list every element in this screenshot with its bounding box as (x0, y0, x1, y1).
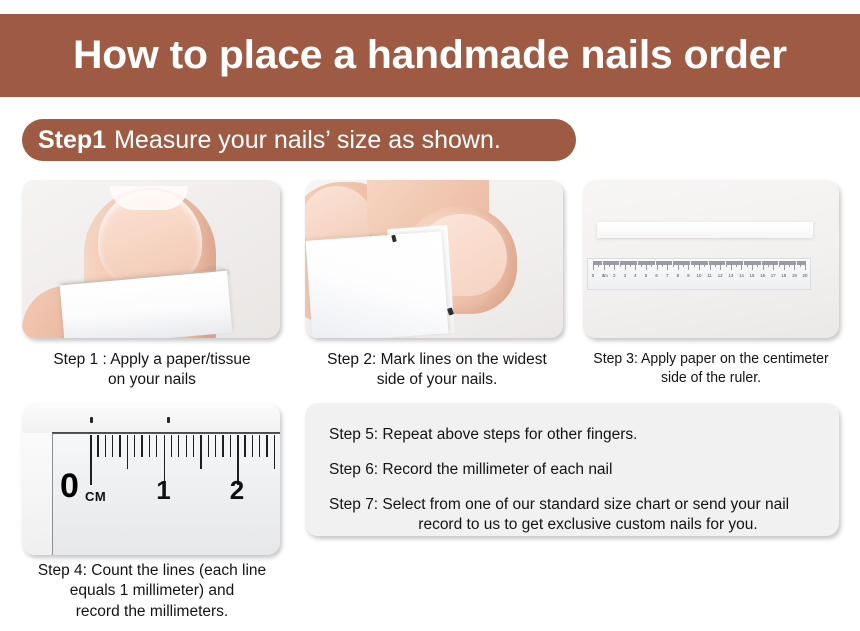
ruler-tick (178, 435, 179, 457)
ruler-tick (97, 435, 98, 457)
caption-step1: Step 1 : Apply a paper/tissue on your na… (12, 350, 292, 391)
ruler-number: 14 (739, 273, 744, 278)
fingertip-with-paper-icon (22, 180, 280, 338)
marked-paper-strip-icon (305, 180, 563, 338)
caption-step4-line2: equals 1 millimeter) and (12, 581, 292, 601)
ruler-tick (134, 435, 135, 457)
paper-strip (597, 222, 813, 238)
ruler-number: 16 (760, 273, 765, 278)
ruler-number: 20 (803, 273, 808, 278)
ruler-tick (244, 435, 245, 457)
ruler-number: 2 (230, 475, 244, 506)
ruler-macro-icon: 0 CM 123 (22, 403, 280, 555)
ruler-number: 5 (645, 273, 647, 278)
ruler-tick (200, 435, 201, 469)
ruler-number: 13 (728, 273, 733, 278)
ruler-tick (259, 435, 260, 457)
photo-card-step1 (22, 180, 280, 338)
caption-step2-line2: side of your nails. (297, 370, 577, 390)
ruler-unit-label: cm (602, 273, 608, 278)
ruler-tick (222, 435, 223, 457)
caption-step1-line2: on your nails (12, 370, 292, 390)
ruler-number: 18 (781, 273, 786, 278)
ruler-zero-label: 0 (60, 469, 79, 503)
ruler-tick (252, 435, 253, 457)
ruler-number: 1 (156, 475, 170, 506)
ruler-number: 12 (718, 273, 723, 278)
ruler-tick (230, 435, 231, 457)
ruler-number: 4 (634, 273, 636, 278)
steps-list: Step 5: Repeat above steps for other fin… (329, 425, 821, 536)
steps-text-card: Step 5: Repeat above steps for other fin… (305, 403, 839, 536)
step1-label: Step1 (38, 126, 106, 155)
ruler-tick (119, 435, 120, 457)
ruler-number: 7 (666, 273, 668, 278)
ruler-number: 2 (613, 273, 615, 278)
ruler-number: 9 (687, 273, 689, 278)
ruler-number: 11 (707, 273, 712, 278)
caption-step4: Step 4: Count the lines (each line equal… (12, 561, 292, 622)
caption-step3-line1: Step 3: Apply paper on the centimeter (577, 350, 845, 369)
caption-step1-line1: Step 1 : Apply a paper/tissue (12, 350, 292, 370)
ruler-tick (266, 435, 267, 457)
caption-step2-line1: Step 2: Mark lines on the widest (297, 350, 577, 370)
ruler-number: 0 (592, 273, 594, 278)
ruler-tick (105, 435, 106, 457)
step7-line2: record to us to get exclusive custom nai… (329, 515, 821, 535)
step1-instruction: Measure your nails’ size as shown. (114, 126, 501, 155)
ruler-number: 3 (624, 273, 626, 278)
step1-banner: Step1 Measure your nails’ size as shown. (22, 119, 576, 161)
photo-card-step2 (305, 180, 563, 338)
ruler-tick (90, 435, 92, 485)
page-title: How to place a handmade nails order (73, 33, 787, 78)
ruler-tick (171, 435, 172, 457)
ruler-tick (193, 435, 194, 457)
ruler-number: 10 (697, 273, 702, 278)
ruler-tick (208, 435, 209, 457)
ruler-tick (156, 435, 157, 457)
caption-step4-line1: Step 4: Count the lines (each line (12, 561, 292, 581)
ruler-unit-label: CM (85, 489, 106, 504)
caption-step3-line2: side of the ruler. (577, 369, 845, 388)
ruler-tick (149, 435, 150, 457)
ruler-tick (112, 435, 113, 457)
step5-line: Step 5: Repeat above steps for other fin… (329, 425, 821, 445)
ruler-tick (274, 435, 275, 469)
caption-step4-line3: record the millimeters. (12, 602, 292, 622)
ruler-number: 17 (771, 273, 776, 278)
photo-card-step3: 01234567891011121314151617181920cm (583, 180, 839, 338)
ruler-with-paper-icon: 01234567891011121314151617181920cm (583, 180, 839, 338)
step7-line1: Step 7: Select from one of our standard … (329, 496, 789, 513)
caption-step3: Step 3: Apply paper on the centimeter si… (577, 350, 845, 388)
ruler-tick (141, 435, 142, 457)
ruler-number: 15 (750, 273, 755, 278)
ruler-tick (127, 435, 128, 469)
ruler-number: 8 (677, 273, 679, 278)
step6-line: Step 6: Record the millimeter of each na… (329, 460, 821, 480)
caption-step2: Step 2: Mark lines on the widest side of… (297, 350, 577, 391)
ruler-tick (186, 435, 187, 457)
header-banner: How to place a handmade nails order (0, 14, 860, 97)
ruler-number: 6 (655, 273, 657, 278)
ruler-number: 19 (792, 273, 797, 278)
step7-line: Step 7: Select from one of our standard … (329, 495, 821, 535)
ruler-20cm: 01234567891011121314151617181920cm (587, 258, 811, 290)
photo-card-step4: 0 CM 123 (22, 403, 280, 555)
ruler-tick (215, 435, 216, 457)
